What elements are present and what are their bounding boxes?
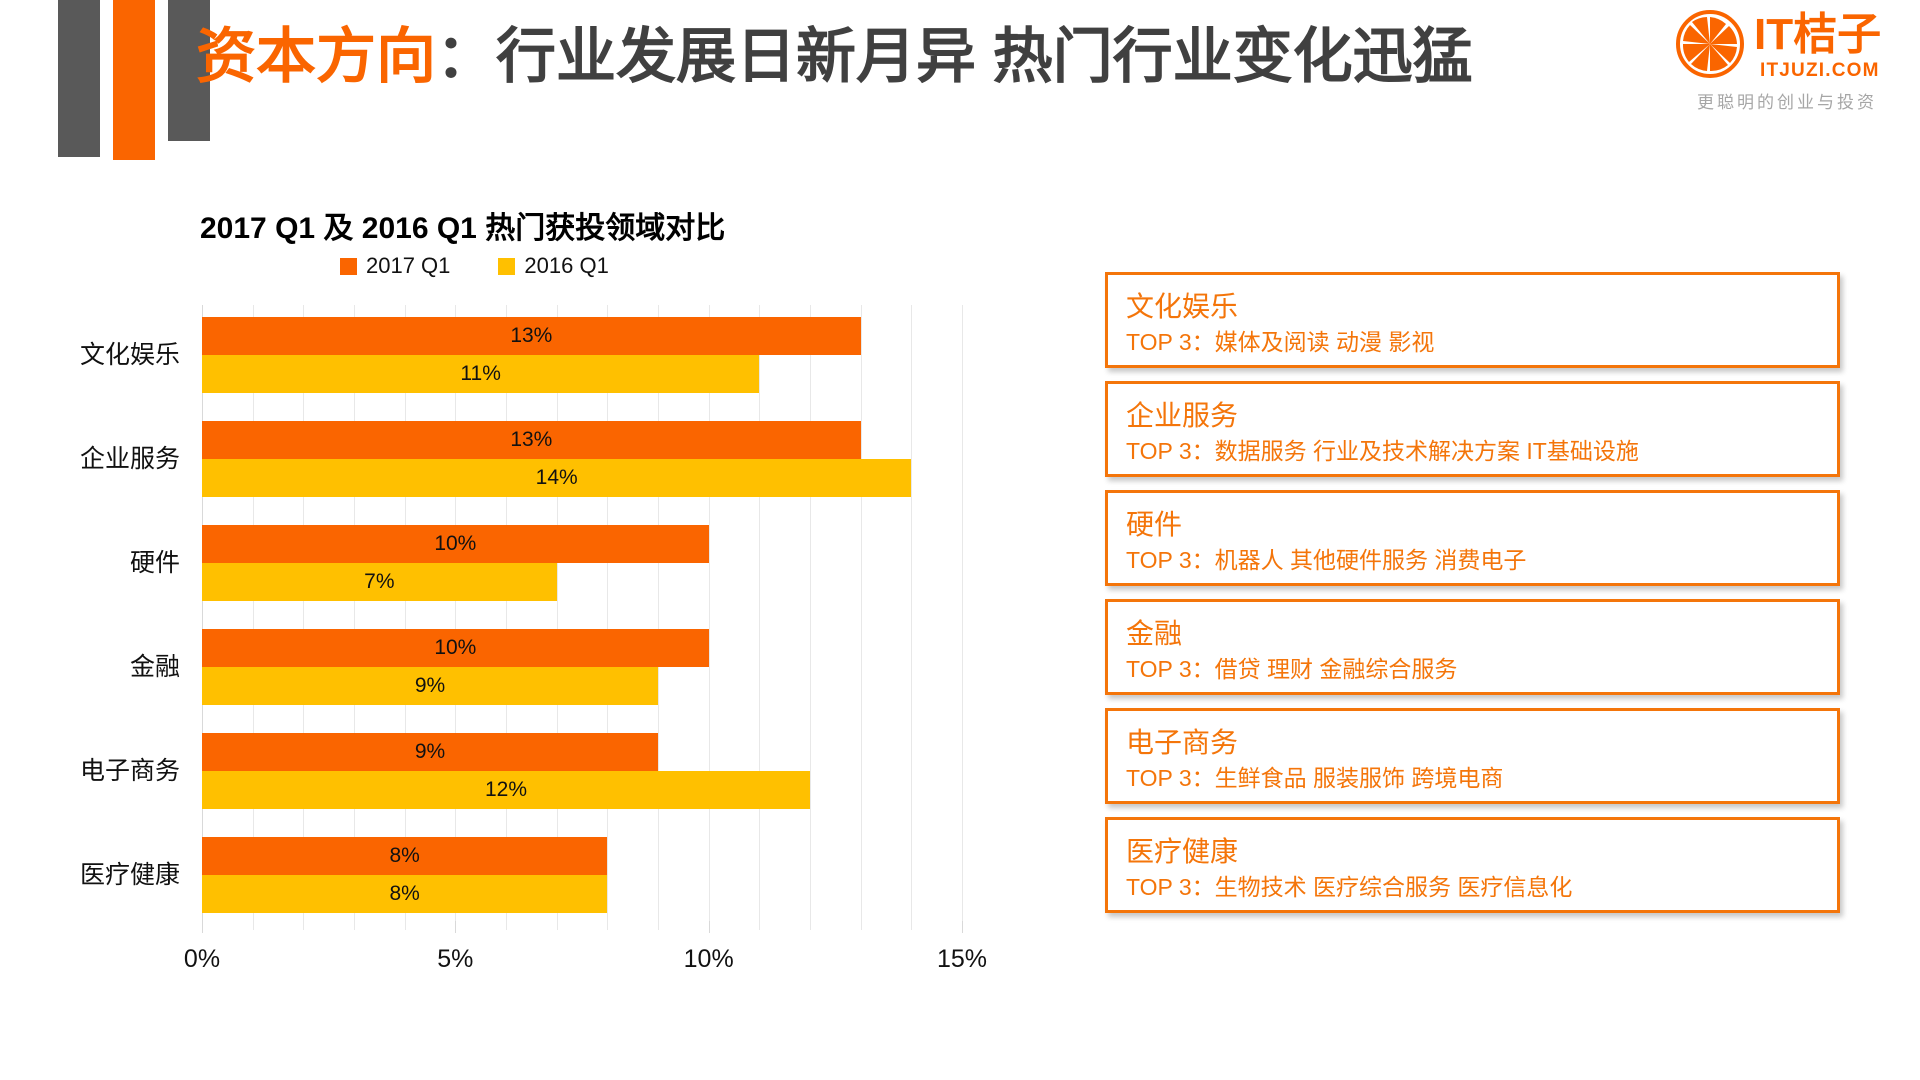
chart-bar: 10%	[202, 525, 709, 563]
chart-category-label: 文化娱乐	[0, 335, 180, 371]
chart-tick-label: 15%	[937, 945, 987, 974]
legend-label-2016: 2016 Q1	[524, 253, 608, 279]
chart-bar-group: 文化娱乐13%11%	[202, 317, 962, 393]
legend-entry-2016: 2016 Q1	[498, 253, 608, 279]
bar-chart: 2017 Q1 及 2016 Q1 热门获投领域对比 2017 Q1 2016 …	[0, 185, 1060, 1015]
brand-logo: IT桔子 ITJUZI.COM 更聪明的创业与投资	[1672, 8, 1902, 118]
chart-bar: 10%	[202, 629, 709, 667]
chart-category-label: 金融	[0, 647, 180, 683]
chart-category-label: 硬件	[0, 543, 180, 579]
chart-category-label: 企业服务	[0, 439, 180, 475]
top3-card-subtitle: TOP 3：数据服务 行业及技术解决方案 IT基础设施	[1126, 434, 1819, 468]
chart-bar: 9%	[202, 733, 658, 771]
chart-tick-mark	[202, 921, 203, 933]
chart-category-label: 电子商务	[0, 751, 180, 787]
chart-bar-value: 9%	[202, 733, 658, 771]
top3-card[interactable]: 企业服务TOP 3：数据服务 行业及技术解决方案 IT基础设施	[1105, 381, 1840, 477]
chart-bar: 13%	[202, 317, 861, 355]
top3-card-title: 电子商务	[1126, 725, 1819, 761]
logo-domain: ITJUZI.COM	[1760, 60, 1880, 82]
header-stripe-left	[58, 0, 100, 157]
top3-card-title: 硬件	[1126, 507, 1819, 543]
legend-entry-2017: 2017 Q1	[340, 253, 450, 279]
chart-bar-value: 8%	[202, 837, 607, 875]
top3-card-title: 金融	[1126, 616, 1819, 652]
chart-plot-area: 文化娱乐13%11%企业服务13%14%硬件10%7%金融10%9%电子商务9%…	[202, 305, 962, 930]
logo-tagline: 更聪明的创业与投资	[1672, 88, 1902, 113]
chart-bar-group: 金融10%9%	[202, 629, 962, 705]
chart-x-axis: 0%5%10%15%	[202, 933, 962, 981]
chart-bar: 14%	[202, 459, 911, 497]
logo-wordmark: IT桔子	[1754, 10, 1881, 60]
top3-card-subtitle: TOP 3：媒体及阅读 动漫 影视	[1126, 325, 1819, 359]
chart-category-label: 医疗健康	[0, 855, 180, 891]
chart-tick-label: 10%	[684, 945, 734, 974]
chart-bar-value: 8%	[202, 875, 607, 913]
chart-bar: 13%	[202, 421, 861, 459]
top3-card[interactable]: 硬件TOP 3：机器人 其他硬件服务 消费电子	[1105, 490, 1840, 586]
orange-slice-icon	[1676, 10, 1744, 78]
chart-legend: 2017 Q1 2016 Q1	[340, 253, 609, 279]
chart-bar-group: 医疗健康8%8%	[202, 837, 962, 913]
chart-tick-label: 0%	[184, 945, 220, 974]
top3-card-title: 企业服务	[1126, 398, 1819, 434]
top3-card[interactable]: 金融TOP 3：借贷 理财 金融综合服务	[1105, 599, 1840, 695]
chart-bar-group: 企业服务13%14%	[202, 421, 962, 497]
chart-tick-mark	[455, 921, 456, 933]
header-stripe-middle	[113, 0, 155, 160]
chart-bar: 8%	[202, 837, 607, 875]
top3-card-subtitle: TOP 3：生鲜食品 服装服饰 跨境电商	[1126, 761, 1819, 795]
chart-tick-mark	[709, 921, 710, 933]
chart-bar-value: 10%	[202, 629, 709, 667]
slide-header: 资本方向：行业发展日新月异 热门行业变化迅猛 IT桔子 ITJUZI.COM 更…	[0, 0, 1920, 175]
top3-card[interactable]: 文化娱乐TOP 3：媒体及阅读 动漫 影视	[1105, 272, 1840, 368]
chart-bar-group: 硬件10%7%	[202, 525, 962, 601]
chart-bar-value: 13%	[202, 421, 861, 459]
page-title-accent: 资本方向	[196, 23, 436, 90]
chart-tick-mark	[962, 921, 963, 933]
top3-card[interactable]: 医疗健康TOP 3：生物技术 医疗综合服务 医疗信息化	[1105, 817, 1840, 913]
chart-bar-group: 电子商务9%12%	[202, 733, 962, 809]
top3-card-title: 文化娱乐	[1126, 289, 1819, 325]
top3-card-subtitle: TOP 3：机器人 其他硬件服务 消费电子	[1126, 543, 1819, 577]
chart-bar: 7%	[202, 563, 557, 601]
chart-bar: 8%	[202, 875, 607, 913]
chart-tick-label: 5%	[437, 945, 473, 974]
legend-label-2017: 2017 Q1	[366, 253, 450, 279]
chart-bar: 9%	[202, 667, 658, 705]
legend-swatch-2017	[340, 258, 357, 275]
chart-gridline	[962, 305, 963, 930]
top3-card-subtitle: TOP 3：生物技术 医疗综合服务 医疗信息化	[1126, 870, 1819, 904]
chart-bar-value: 10%	[202, 525, 709, 563]
chart-bar: 11%	[202, 355, 759, 393]
chart-bar-value: 14%	[202, 459, 911, 497]
legend-swatch-2016	[498, 258, 515, 275]
top3-card[interactable]: 电子商务TOP 3：生鲜食品 服装服饰 跨境电商	[1105, 708, 1840, 804]
chart-bar-value: 11%	[202, 355, 759, 393]
chart-bar-value: 7%	[202, 563, 557, 601]
chart-bar-value: 13%	[202, 317, 861, 355]
page-title-rest: ：行业发展日新月异 热门行业变化迅猛	[436, 23, 1473, 90]
page-title: 资本方向：行业发展日新月异 热门行业变化迅猛	[196, 18, 1473, 96]
top3-card-subtitle: TOP 3：借贷 理财 金融综合服务	[1126, 652, 1819, 686]
chart-bar-value: 12%	[202, 771, 810, 809]
chart-title: 2017 Q1 及 2016 Q1 热门获投领域对比	[200, 203, 725, 247]
top3-card-list: 文化娱乐TOP 3：媒体及阅读 动漫 影视企业服务TOP 3：数据服务 行业及技…	[1105, 272, 1840, 926]
chart-bar-value: 9%	[202, 667, 658, 705]
chart-bar: 12%	[202, 771, 810, 809]
top3-card-title: 医疗健康	[1126, 834, 1819, 870]
